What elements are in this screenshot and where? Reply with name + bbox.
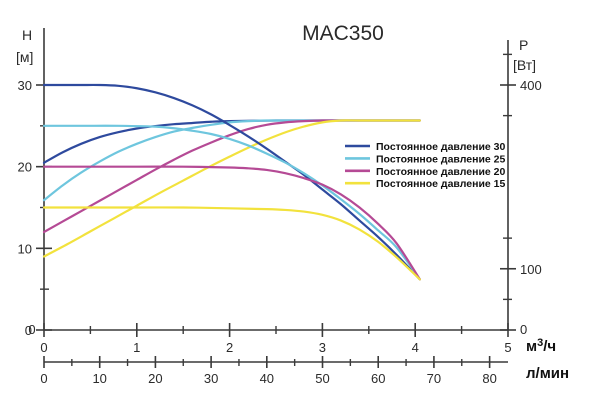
power-curve xyxy=(44,120,420,256)
left-axis-zero-label: 0 xyxy=(28,322,35,337)
bottom-secondary-tick-label: 10 xyxy=(92,371,106,386)
bottom-secondary-tick-label: 20 xyxy=(148,371,162,386)
bottom-secondary-tick-label: 60 xyxy=(371,371,385,386)
right-axis-name: P xyxy=(519,37,528,53)
legend-item-label[interactable]: Постоянное давление 30 xyxy=(376,141,506,153)
left-axis-name: H xyxy=(22,27,32,43)
chart-legend: Постоянное давление 30Постоянное давлени… xyxy=(345,141,506,190)
right-tick-label: 400 xyxy=(520,78,542,93)
bottom-secondary-tick-label: 50 xyxy=(315,371,329,386)
page-title: MAC350 xyxy=(302,22,384,45)
legend-item-label[interactable]: Постоянное давление 15 xyxy=(376,178,506,190)
power-curve xyxy=(44,120,420,200)
bottom-primary-tick-label: 0 xyxy=(40,340,47,355)
left-axis-unit: [м] xyxy=(16,49,33,65)
axis-ticks xyxy=(36,54,516,368)
bottom-secondary-tick-label: 30 xyxy=(204,371,218,386)
legend-item-label[interactable]: Постоянное давление 20 xyxy=(376,166,506,178)
bottom-primary-tick-label: 1 xyxy=(133,340,140,355)
right-axis-unit: [Вт] xyxy=(513,57,536,73)
bottom-unit-primary: м3/ч xyxy=(526,337,556,355)
legend-item-label[interactable]: Постоянное давление 25 xyxy=(376,153,506,165)
left-tick-label: 10 xyxy=(18,241,32,256)
bottom-secondary-tick-label: 80 xyxy=(482,371,496,386)
bottom-primary-tick-label: 5 xyxy=(504,340,511,355)
bottom-unit-secondary: л/мин xyxy=(526,365,569,382)
bottom-secondary-tick-label: 40 xyxy=(260,371,274,386)
axis-tick-labels: 010203010040001234501020304050607080 xyxy=(18,78,542,386)
bottom-primary-tick-label: 2 xyxy=(226,340,233,355)
right-axis-zero-label: 0 xyxy=(520,322,527,337)
right-tick-label: 100 xyxy=(520,262,542,277)
chart-canvas: MAC350 H [м] P [Вт] 01020301004000123450… xyxy=(0,0,600,400)
bottom-secondary-tick-label: 0 xyxy=(40,371,47,386)
bottom-secondary-tick-label: 70 xyxy=(427,371,441,386)
left-tick-label: 20 xyxy=(18,160,32,175)
bottom-primary-tick-label: 4 xyxy=(412,340,419,355)
bottom-primary-tick-label: 3 xyxy=(319,340,326,355)
head-curve xyxy=(44,126,420,280)
pump-performance-chart: MAC350 H [м] P [Вт] 01020301004000123450… xyxy=(0,0,600,400)
left-tick-label: 30 xyxy=(18,78,32,93)
